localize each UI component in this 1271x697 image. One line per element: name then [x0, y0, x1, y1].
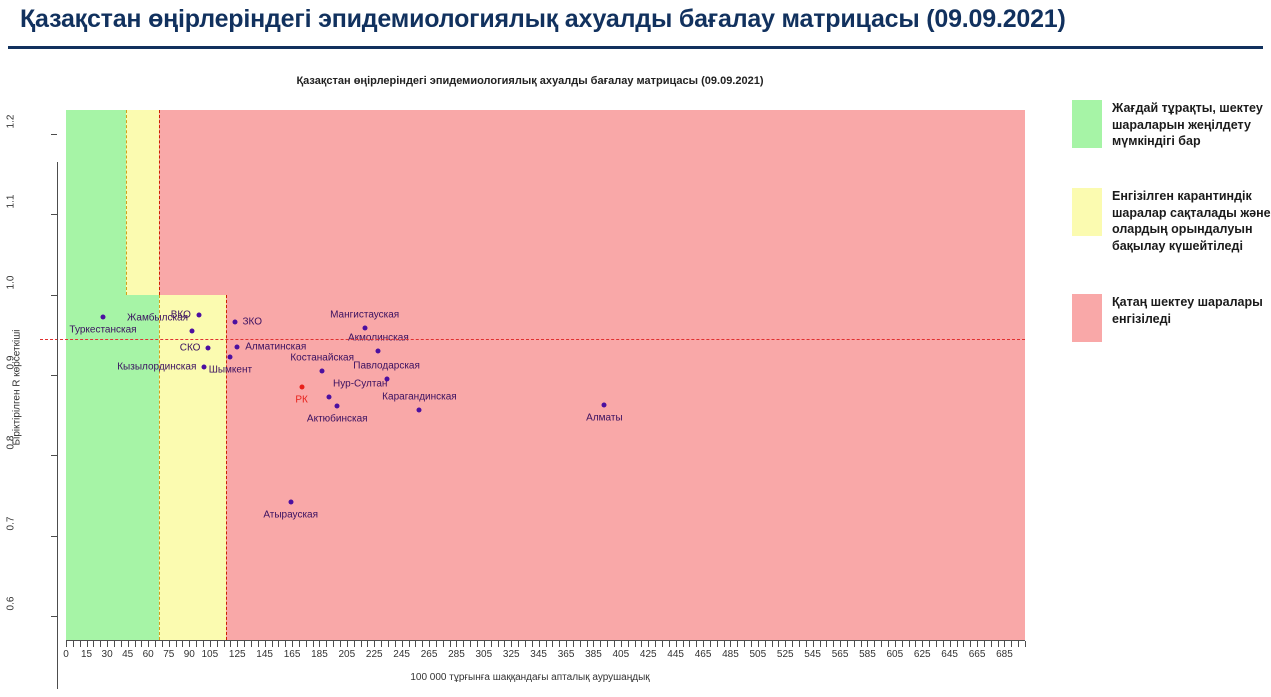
x-tick [813, 641, 814, 647]
x-tick [66, 641, 67, 647]
x-tick [635, 641, 636, 647]
x-tick [991, 641, 992, 647]
x-tick [141, 641, 142, 647]
x-tick [559, 641, 560, 647]
x-tick [258, 641, 259, 647]
boundary-line-2 [159, 295, 160, 640]
x-tick [936, 641, 937, 647]
data-point-label: Павлодарская [353, 361, 420, 372]
x-tick [806, 641, 807, 647]
x-tick [730, 641, 731, 647]
x-tick [751, 641, 752, 647]
data-point [206, 345, 211, 350]
x-tick [662, 641, 663, 647]
x-tick [374, 641, 375, 647]
x-tick [210, 641, 211, 647]
legend-swatch [1072, 188, 1102, 236]
x-tick-label: 15 [81, 649, 92, 660]
data-point [100, 315, 105, 320]
legend-item-0: Жағдай тұрақты, шектеу шараларын жеңілде… [1072, 100, 1271, 150]
x-tick [470, 641, 471, 647]
r-threshold-line [40, 339, 1025, 340]
x-tick [196, 641, 197, 647]
region-green-lower [66, 295, 159, 640]
x-tick [498, 641, 499, 647]
x-tick [676, 641, 677, 647]
data-point [232, 320, 237, 325]
x-tick-label: 525 [777, 649, 794, 660]
x-tick [182, 641, 183, 647]
x-tick [785, 641, 786, 647]
data-point [288, 499, 293, 504]
x-tick [909, 641, 910, 647]
x-tick-label: 505 [750, 649, 767, 660]
x-tick [861, 641, 862, 647]
x-tick-label: 90 [184, 649, 195, 660]
x-tick-label: 385 [585, 649, 602, 660]
x-tick-label: 30 [102, 649, 113, 660]
x-tick [826, 641, 827, 647]
data-point-label: Шымкент [209, 365, 252, 376]
region-green-upper [66, 110, 126, 295]
x-tick [463, 641, 464, 647]
x-tick-label: 565 [832, 649, 849, 660]
x-tick [963, 641, 964, 647]
data-point [228, 355, 233, 360]
x-tick [881, 641, 882, 647]
x-tick [169, 641, 170, 647]
x-tick [580, 641, 581, 647]
x-tick-label: 685 [996, 649, 1013, 660]
data-point-label: Жамбылская [127, 312, 188, 323]
data-point-label: Алматы [586, 412, 623, 423]
y-tick-label: 0.7 [6, 500, 17, 546]
x-tick-label: 585 [859, 649, 876, 660]
legend: Жағдай тұрақты, шектеу шараларын жеңілде… [1072, 100, 1271, 368]
data-point-label: Алматинская [245, 341, 306, 352]
page-header: Қазақстан өңірлеріндегі эпидемиологиялық… [0, 0, 1271, 52]
data-point-label: СКО [180, 342, 201, 353]
x-tick [703, 641, 704, 647]
x-tick [957, 641, 958, 647]
x-tick-label: 305 [476, 649, 493, 660]
x-tick [669, 641, 670, 647]
data-point-label: ЗКО [243, 317, 263, 328]
data-point [327, 394, 332, 399]
y-axis-line [57, 162, 58, 689]
data-point-label: Карагандинская [382, 391, 457, 402]
x-tick [1025, 641, 1026, 647]
plot-area: ТуркестанскаяВКОЗКОЖамбылскаяМангистауск… [66, 110, 1025, 640]
x-tick [792, 641, 793, 647]
x-tick [80, 641, 81, 647]
chart-container: Қазақстан өңірлеріндегі эпидемиологиялық… [0, 52, 1060, 697]
x-tick [895, 641, 896, 647]
x-tick [292, 641, 293, 647]
x-tick [491, 641, 492, 647]
y-axis-title: Біріктірілген R көрсеткіші [12, 303, 23, 473]
header-divider [8, 46, 1263, 49]
x-tick [587, 641, 588, 647]
x-tick [381, 641, 382, 647]
x-tick [518, 641, 519, 647]
data-point [190, 328, 195, 333]
boundary-line-0 [126, 110, 127, 295]
region-red-lower [226, 295, 1025, 640]
data-point [417, 407, 422, 412]
x-tick [922, 641, 923, 647]
x-tick [621, 641, 622, 647]
x-tick-label: 205 [339, 649, 356, 660]
x-tick [552, 641, 553, 647]
x-tick [1018, 641, 1019, 647]
x-tick [737, 641, 738, 647]
x-tick-label: 45 [122, 649, 133, 660]
x-tick [977, 641, 978, 647]
x-tick-label: 60 [143, 649, 154, 660]
x-tick [230, 641, 231, 647]
x-tick-label: 125 [229, 649, 246, 660]
x-tick [915, 641, 916, 647]
x-tick [902, 641, 903, 647]
x-tick-label: 665 [969, 649, 986, 660]
x-tick-label: 0 [63, 649, 69, 660]
data-point [376, 348, 381, 353]
x-tick-label: 365 [558, 649, 575, 660]
x-tick [224, 641, 225, 647]
x-tick [696, 641, 697, 647]
page-title: Қазақстан өңірлеріндегі эпидемиологиялық… [20, 5, 1066, 34]
x-tick [614, 641, 615, 647]
x-tick-label: 285 [448, 649, 465, 660]
x-tick-label: 445 [667, 649, 684, 660]
legend-label: Енгізілген карантиндік шаралар сақталады… [1112, 188, 1271, 255]
x-tick [854, 641, 855, 647]
x-tick [744, 641, 745, 647]
data-point-label: Актюбинская [307, 413, 368, 424]
x-tick-label: 105 [202, 649, 219, 660]
x-tick [162, 641, 163, 647]
x-tick-label: 75 [163, 649, 174, 660]
x-tick [477, 641, 478, 647]
x-tick-label: 465 [695, 649, 712, 660]
x-tick-label: 485 [722, 649, 739, 660]
x-tick-label: 165 [284, 649, 301, 660]
x-tick [539, 641, 540, 647]
x-tick [203, 641, 204, 647]
data-point [320, 368, 325, 373]
data-point-label: Костанайская [290, 352, 354, 363]
y-tick [51, 455, 57, 456]
x-tick [758, 641, 759, 647]
x-tick [148, 641, 149, 647]
x-tick [450, 641, 451, 647]
x-tick [93, 641, 94, 647]
x-tick [347, 641, 348, 647]
x-tick [361, 641, 362, 647]
x-tick [299, 641, 300, 647]
x-tick [717, 641, 718, 647]
x-tick [189, 641, 190, 647]
x-tick [306, 641, 307, 647]
x-tick [593, 641, 594, 647]
x-tick [970, 641, 971, 647]
y-tick [51, 214, 57, 215]
y-tick-label: 1.1 [6, 179, 17, 225]
x-tick [87, 641, 88, 647]
x-tick [778, 641, 779, 647]
chart-title: Қазақстан өңірлеріндегі эпидемиологиялық… [0, 75, 1060, 87]
x-tick [772, 641, 773, 647]
x-tick [943, 641, 944, 647]
x-tick [484, 641, 485, 647]
x-tick [265, 641, 266, 647]
y-tick [51, 616, 57, 617]
legend-item-2: Қатаң шектеу шаралары енгізіледі [1072, 294, 1271, 342]
data-point-label: Акмолинская [348, 332, 409, 343]
legend-label: Жағдай тұрақты, шектеу шараларын жеңілде… [1112, 100, 1271, 150]
data-point [299, 385, 304, 390]
x-tick [504, 641, 505, 647]
legend-item-1: Енгізілген карантиндік шаралар сақталады… [1072, 188, 1271, 255]
y-tick-label: 0.6 [6, 580, 17, 626]
x-tick [456, 641, 457, 647]
legend-swatch [1072, 294, 1102, 342]
x-tick [929, 641, 930, 647]
data-point [196, 312, 201, 317]
x-tick [840, 641, 841, 647]
data-point [602, 402, 607, 407]
x-tick [135, 641, 136, 647]
legend-label: Қатаң шектеу шаралары енгізіледі [1112, 294, 1271, 327]
x-tick [155, 641, 156, 647]
x-tick [888, 641, 889, 647]
data-point [362, 326, 367, 331]
x-tick-label: 145 [256, 649, 273, 660]
data-point [235, 344, 240, 349]
x-tick [107, 641, 108, 647]
y-tick [51, 134, 57, 135]
x-tick [799, 641, 800, 647]
x-tick-label: 625 [914, 649, 931, 660]
x-tick [285, 641, 286, 647]
x-tick [429, 641, 430, 647]
x-tick [388, 641, 389, 647]
x-tick [251, 641, 252, 647]
x-tick [326, 641, 327, 647]
boundary-line-3 [226, 295, 227, 640]
x-tick-label: 325 [503, 649, 520, 660]
x-tick-label: 605 [887, 649, 904, 660]
x-tick-label: 645 [941, 649, 958, 660]
x-tick [820, 641, 821, 647]
x-tick [511, 641, 512, 647]
x-tick [710, 641, 711, 647]
x-tick [443, 641, 444, 647]
data-point-label: РК [295, 395, 308, 406]
x-tick [176, 641, 177, 647]
x-tick [600, 641, 601, 647]
x-tick [354, 641, 355, 647]
x-tick [333, 641, 334, 647]
x-tick [874, 641, 875, 647]
x-axis-title: 100 000 тұрғынға шаққандағы апталық ауру… [0, 672, 1060, 683]
x-tick [436, 641, 437, 647]
x-tick [655, 641, 656, 647]
x-tick [319, 641, 320, 647]
x-tick [313, 641, 314, 647]
data-point-label: Нур-Султан [333, 378, 387, 389]
data-point-label: Атырауская [263, 509, 318, 520]
x-tick [998, 641, 999, 647]
legend-swatch [1072, 100, 1102, 148]
x-tick [409, 641, 410, 647]
x-tick [278, 641, 279, 647]
x-tick-label: 545 [804, 649, 821, 660]
y-tick [51, 295, 57, 296]
y-tick [51, 536, 57, 537]
x-tick [984, 641, 985, 647]
data-point-label: Мангистауская [330, 310, 399, 321]
x-tick-label: 345 [530, 649, 547, 660]
x-tick [833, 641, 834, 647]
x-tick [724, 641, 725, 647]
x-tick [683, 641, 684, 647]
x-tick [340, 641, 341, 647]
data-point-label: Туркестанская [69, 325, 136, 336]
x-tick [628, 641, 629, 647]
x-tick [689, 641, 690, 647]
boundary-line-1 [159, 110, 160, 295]
x-tick [641, 641, 642, 647]
x-tick-label: 265 [421, 649, 438, 660]
x-tick [546, 641, 547, 647]
x-tick [950, 641, 951, 647]
x-tick [607, 641, 608, 647]
x-tick-label: 405 [613, 649, 630, 660]
y-tick-label: 1.0 [6, 259, 17, 305]
data-point [335, 403, 340, 408]
region-yellow-upper [126, 110, 159, 295]
x-tick [867, 641, 868, 647]
x-tick [395, 641, 396, 647]
x-tick-label: 245 [393, 649, 410, 660]
x-tick [648, 641, 649, 647]
x-tick [532, 641, 533, 647]
x-tick [566, 641, 567, 647]
data-point-label: Кызылординская [117, 361, 196, 372]
x-tick [1004, 641, 1005, 647]
x-tick [272, 641, 273, 647]
x-tick [244, 641, 245, 647]
y-tick [51, 375, 57, 376]
x-tick-label: 425 [640, 649, 657, 660]
x-tick [128, 641, 129, 647]
x-tick [367, 641, 368, 647]
x-tick [765, 641, 766, 647]
x-tick [415, 641, 416, 647]
x-tick [100, 641, 101, 647]
x-tick [237, 641, 238, 647]
x-tick-label: 225 [366, 649, 383, 660]
x-tick [217, 641, 218, 647]
x-tick-label: 185 [311, 649, 328, 660]
data-point [202, 364, 207, 369]
x-tick [114, 641, 115, 647]
x-tick [402, 641, 403, 647]
x-tick [1011, 641, 1012, 647]
x-tick [847, 641, 848, 647]
y-tick-label: 1.2 [6, 99, 17, 145]
x-tick [73, 641, 74, 647]
region-red-upper [159, 110, 1025, 295]
x-tick [573, 641, 574, 647]
x-tick [422, 641, 423, 647]
x-tick [525, 641, 526, 647]
x-tick [121, 641, 122, 647]
